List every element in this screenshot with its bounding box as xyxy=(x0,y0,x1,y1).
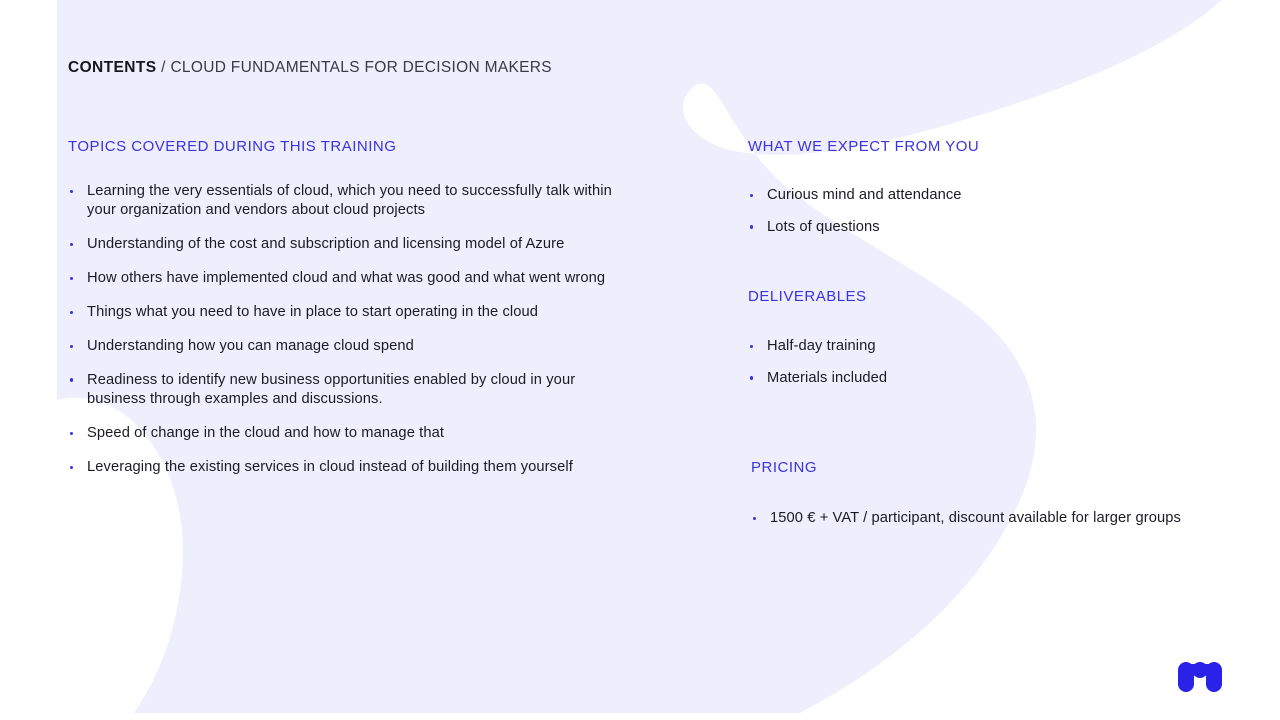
list-item: Curious mind and attendance xyxy=(748,186,1188,205)
left-column: TOPICS COVERED DURING THIS TRAINING Lear… xyxy=(68,138,634,492)
deliverables-list: Half-day training Materials included xyxy=(748,337,1188,401)
list-item: How others have implemented cloud and wh… xyxy=(68,269,634,288)
topics-covered-list: Learning the very essentials of cloud, w… xyxy=(68,182,634,478)
list-item: Things what you need to have in place to… xyxy=(68,303,634,322)
list-item: 1500 € + VAT / participant, discount ava… xyxy=(751,509,1191,528)
header-contents-label: CONTENTS xyxy=(68,59,156,76)
list-item: Lots of questions xyxy=(748,218,1188,237)
list-item: Half-day training xyxy=(748,337,1188,356)
header-subtitle: CLOUD FUNDAMENTALS FOR DECISION MAKERS xyxy=(170,59,551,76)
section-title-what-we-expect: WHAT WE EXPECT FROM YOU xyxy=(748,138,979,155)
list-item: Learning the very essentials of cloud, w… xyxy=(68,182,634,221)
list-item: Materials included xyxy=(748,369,1188,388)
pricing-list: 1500 € + VAT / participant, discount ava… xyxy=(751,509,1191,541)
section-title-topics-covered: TOPICS COVERED DURING THIS TRAINING xyxy=(68,138,634,155)
slide-header: CONTENTS / CLOUD FUNDAMENTALS FOR DECISI… xyxy=(68,59,552,77)
what-we-expect-list: Curious mind and attendance Lots of ques… xyxy=(748,186,1188,250)
slide: CONTENTS / CLOUD FUNDAMENTALS FOR DECISI… xyxy=(0,0,1280,720)
list-item: Speed of change in the cloud and how to … xyxy=(68,424,634,443)
header-separator: / xyxy=(156,59,170,76)
section-title-deliverables: DELIVERABLES xyxy=(748,288,867,305)
list-item: Understanding how you can manage cloud s… xyxy=(68,337,634,356)
list-item: Leveraging the existing services in clou… xyxy=(68,458,634,477)
company-logo-m-icon xyxy=(1178,660,1222,694)
list-item: Understanding of the cost and subscripti… xyxy=(68,235,634,254)
section-title-pricing: PRICING xyxy=(751,459,817,476)
list-item: Readiness to identify new business oppor… xyxy=(68,371,634,410)
